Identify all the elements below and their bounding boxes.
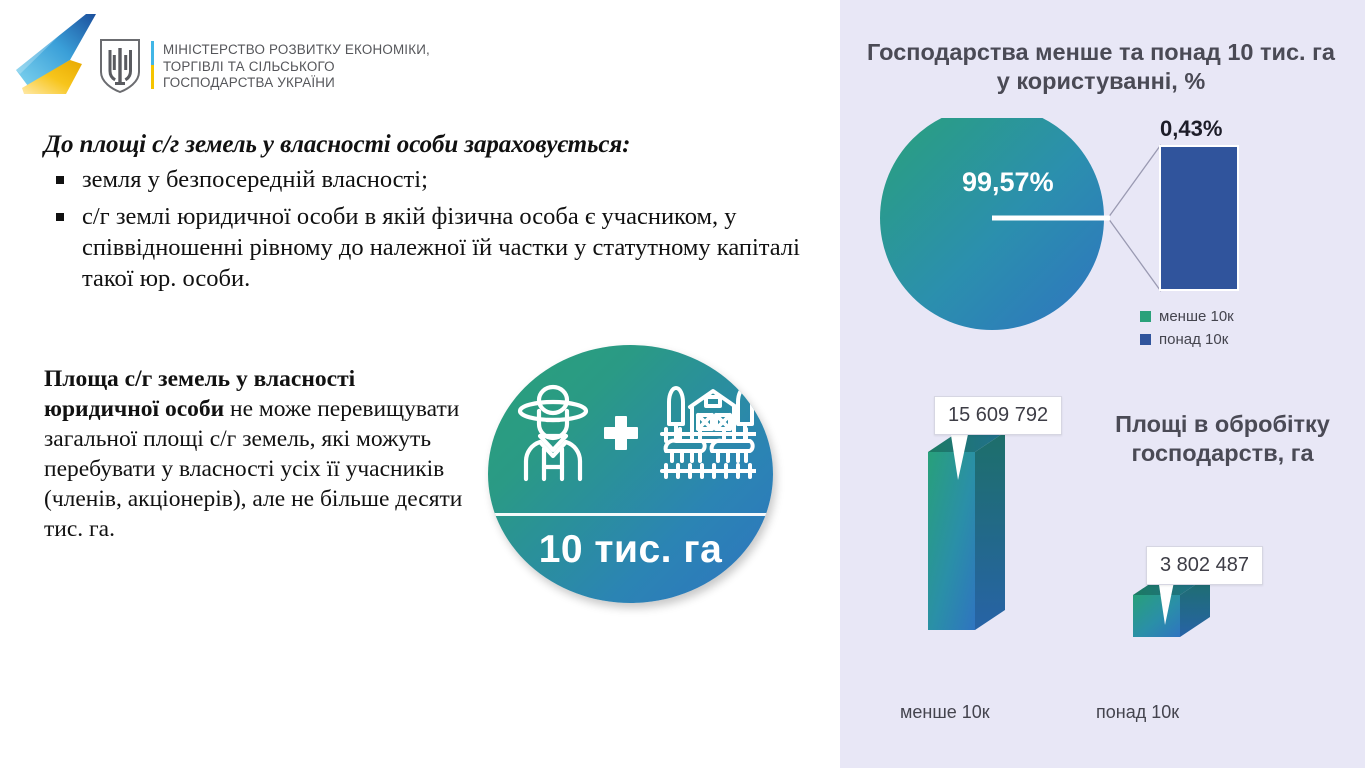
pie-bar-connector	[1108, 146, 1160, 290]
list-item: земля у безпосередній власності;	[44, 164, 844, 195]
farmer-plus-farm-icons	[506, 367, 756, 512]
bar-category-label-ponad: понад 10к	[1096, 702, 1179, 723]
ministry-line-1: МІНІСТЕРСТВО РОЗВИТКУ ЕКОНОМІКИ,	[163, 42, 483, 59]
legend-label: менше 10к	[1159, 308, 1234, 325]
legend-swatch-blue-icon	[1140, 334, 1151, 345]
bullet-square-icon	[56, 176, 64, 184]
farm-buildings-icon	[662, 388, 756, 477]
legend-item-menshe: менше 10к	[1140, 308, 1234, 325]
legend-swatch-teal-icon	[1140, 311, 1151, 322]
flag-divider	[151, 41, 154, 89]
bar-3d-menshe	[928, 432, 1005, 630]
pie-chart: 99,57% 0,43%	[860, 118, 1360, 338]
pie-bar-ponad	[1160, 146, 1238, 290]
pie-slice-menshe	[880, 118, 1104, 330]
bullet-square-icon	[56, 213, 64, 221]
bullet-list: земля у безпосередній власності; с/г зем…	[44, 164, 844, 294]
plus-icon	[604, 416, 638, 450]
bullet-text: с/г землі юридичної особи в якій фізична…	[82, 203, 800, 292]
lead-statement: До площі с/г земель у власності особи за…	[44, 131, 844, 159]
pie-label-ponad: 0,43%	[1160, 118, 1222, 141]
pie-chart-title: Господарства менше та понад 10 тис. га у…	[866, 38, 1336, 96]
graphic-circle: 10 тис. га	[488, 345, 773, 603]
bar-value-callout-menshe: 15 609 792	[934, 396, 1062, 435]
legend-item-ponad: понад 10к	[1140, 331, 1234, 348]
ukraine-trident-emblem-icon	[98, 38, 142, 94]
list-item: с/г землі юридичної особи в якій фізична…	[44, 201, 844, 294]
bar-category-label-menshe: менше 10к	[900, 702, 990, 723]
slide-root: МІНІСТЕРСТВО РОЗВИТКУ ЕКОНОМІКИ, ТОРГІВЛ…	[0, 0, 1365, 768]
pie-chart-legend: менше 10к понад 10к	[1140, 308, 1234, 354]
ministry-header: МІНІСТЕРСТВО РОЗВИТКУ ЕКОНОМІКИ, ТОРГІВЛ…	[8, 8, 478, 100]
ten-thousand-ha-graphic: 10 тис. га	[488, 345, 778, 610]
pie-chart-svg: 99,57% 0,43%	[860, 118, 1360, 338]
ministry-line-3: ГОСПОДАРСТВА УКРАЇНИ	[163, 75, 483, 92]
legend-label: понад 10к	[1159, 331, 1228, 348]
pie-label-menshe: 99,57%	[962, 167, 1054, 197]
farmer-icon	[520, 387, 586, 479]
ministry-name: МІНІСТЕРСТВО РОЗВИТКУ ЕКОНОМІКИ, ТОРГІВЛ…	[163, 42, 483, 92]
circle-label: 10 тис. га	[488, 528, 773, 572]
bar-value-callout-ponad: 3 802 487	[1146, 546, 1263, 585]
bullet-text: земля у безпосередній власності;	[82, 166, 428, 193]
ministry-line-2: ТОРГІВЛІ ТА СІЛЬСЬКОГО	[163, 59, 483, 76]
ownership-limit-paragraph: Площа с/г земель у власності юридичної о…	[44, 364, 464, 544]
circle-divider	[488, 513, 773, 516]
